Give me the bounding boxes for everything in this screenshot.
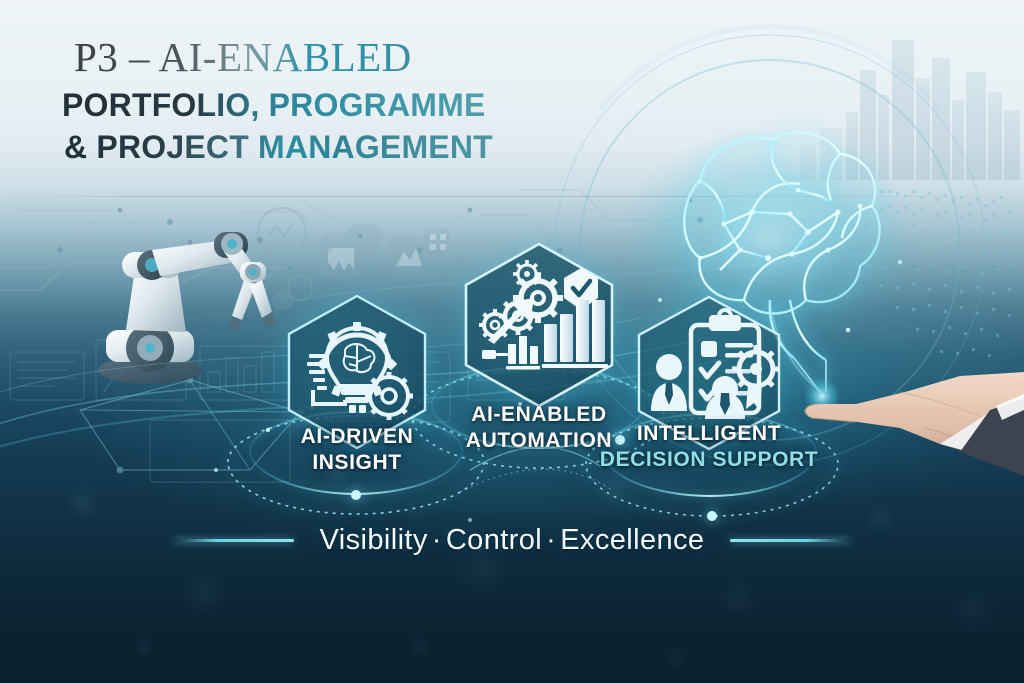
bottom-bokeh-texture	[0, 383, 1024, 683]
title-line-3: & PROJECT MANAGEMENT	[64, 126, 493, 168]
page-title: P3 – AI-ENABLED PORTFOLIO, PROGRAMME & P…	[74, 36, 493, 169]
banner-canvas: P3 – AI-ENABLED PORTFOLIO, PROGRAMME & P…	[0, 0, 1024, 683]
heading-divider	[0, 196, 1024, 197]
title-line-2: PORTFOLIO, PROGRAMME	[62, 84, 493, 126]
title-line-1: P3 – AI-ENABLED	[74, 36, 493, 79]
